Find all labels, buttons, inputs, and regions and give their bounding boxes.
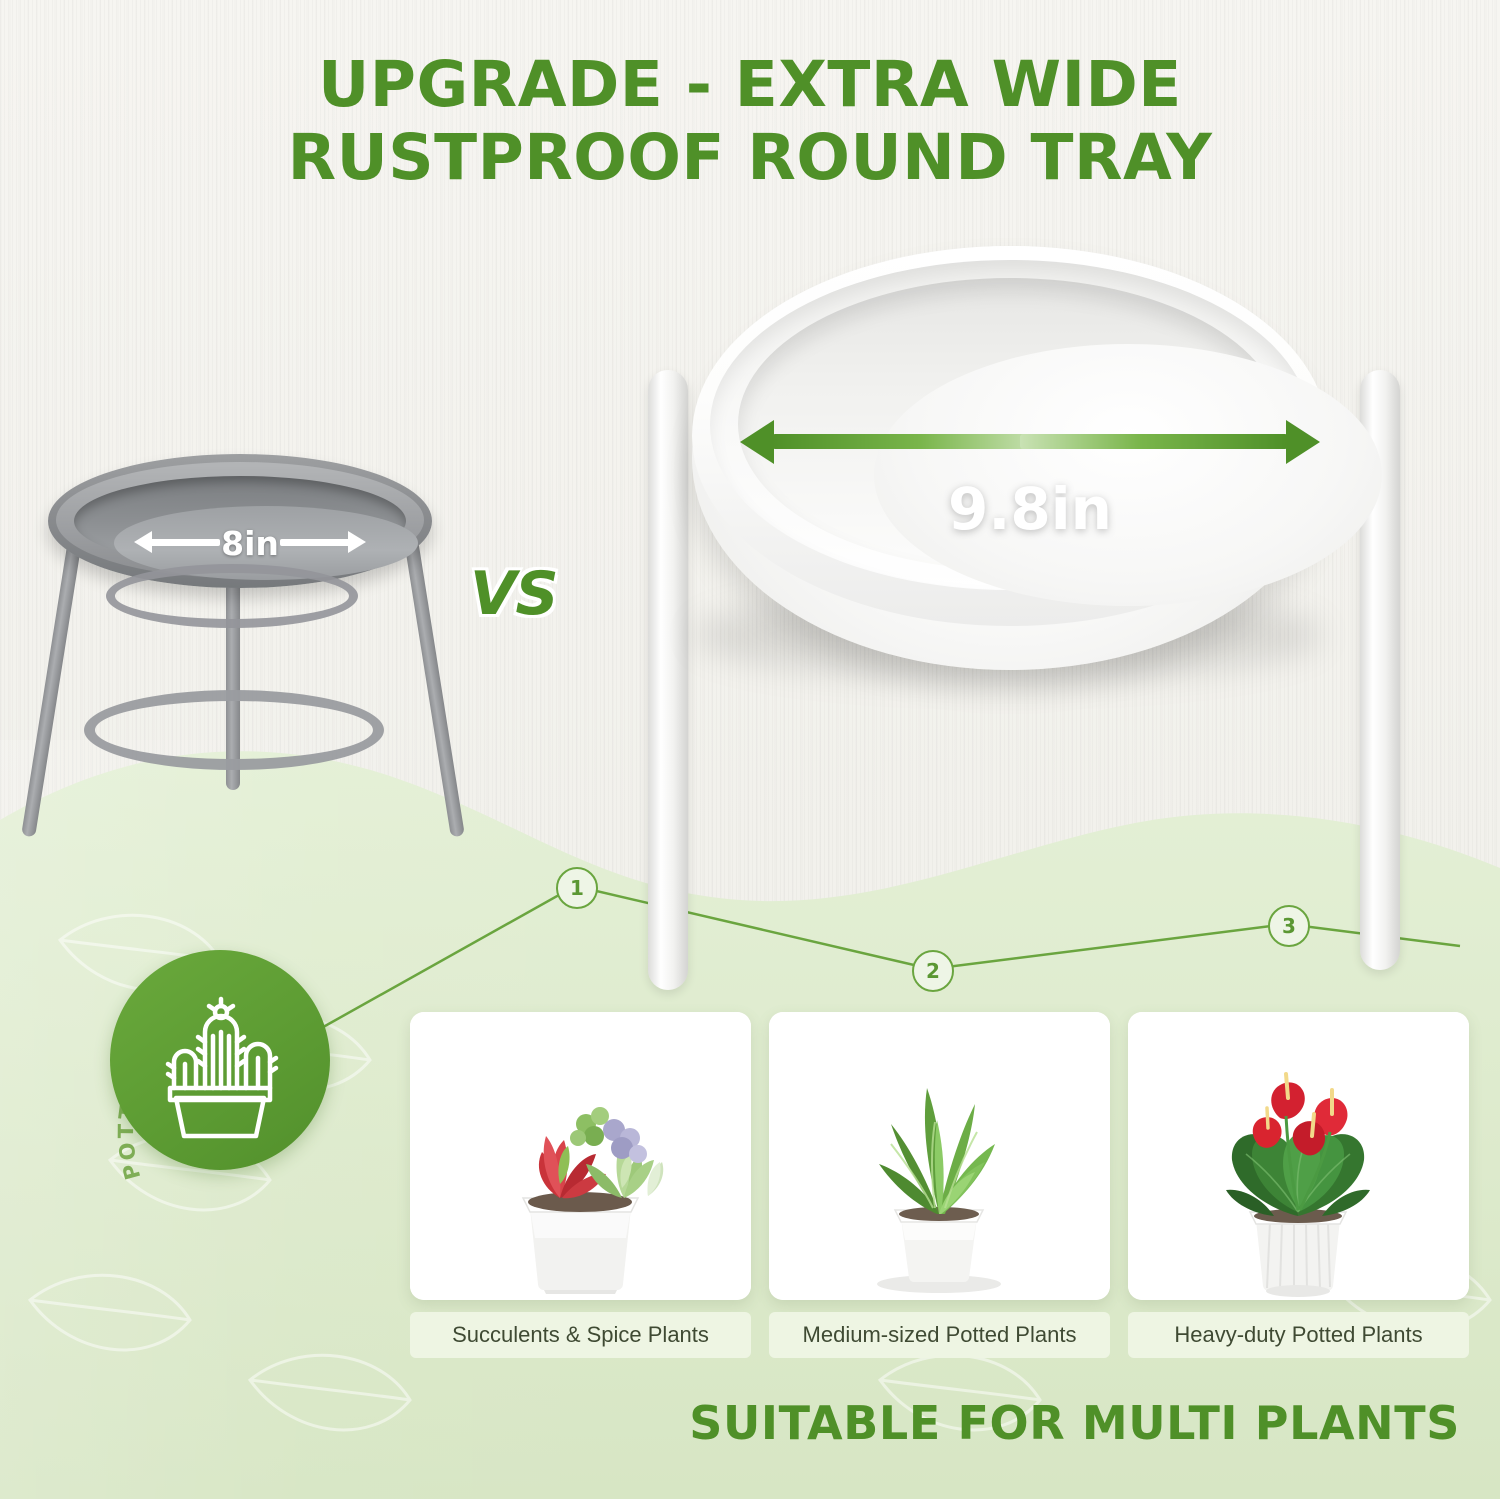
arrow-right-icon: [280, 531, 366, 553]
product-card-list: [410, 1012, 1470, 1302]
old-stand-support-ring: [84, 690, 384, 770]
arrow-right-green-icon: [1020, 420, 1320, 464]
caption-list: Succulents & Spice Plants Medium-sized P…: [410, 1312, 1470, 1360]
potted-plant-badge: POTTED PLANT: [110, 950, 330, 1170]
caption-succulents: Succulents & Spice Plants: [410, 1312, 751, 1358]
anthurium-plant-photo: [1128, 1012, 1469, 1300]
aloe-plant-photo: [769, 1012, 1110, 1300]
caption-medium-plants: Medium-sized Potted Plants: [769, 1312, 1110, 1358]
versus-label: VS: [470, 559, 558, 629]
old-dimension-label: 8in: [217, 524, 283, 563]
connector-node-1: 1: [556, 867, 598, 909]
headline-line-2: RUSTPROOF ROUND TRAY: [0, 121, 1500, 194]
footer-title: SUITABLE FOR MULTI PLANTS: [0, 1396, 1460, 1450]
old-stand-leg-left: [21, 539, 82, 837]
new-white-plant-stand: [620, 230, 1420, 890]
succulent-plant-photo: [410, 1012, 751, 1300]
old-tray-dimension: 8in: [140, 520, 360, 566]
arrow-left-green-icon: [740, 420, 1040, 464]
connector-node-3: 3: [1268, 905, 1310, 947]
product-card-succulents[interactable]: [410, 1012, 751, 1300]
cactus-pot-icon: [110, 950, 330, 1170]
caption-heavy-duty: Heavy-duty Potted Plants: [1128, 1312, 1469, 1358]
new-dimension-label: 9.8in: [740, 475, 1320, 543]
old-stand-brace: [106, 564, 358, 628]
new-stand-leg-left: [648, 370, 688, 990]
old-grey-plant-stand: [40, 440, 460, 860]
old-stand-leg-right: [404, 539, 465, 837]
connector-node-2: 2: [912, 950, 954, 992]
headline-line-1: UPGRADE - EXTRA WIDE: [0, 48, 1500, 121]
product-card-anthurium[interactable]: [1128, 1012, 1469, 1300]
infographic-canvas: UPGRADE - EXTRA WIDE RUSTPROOF ROUND TRA…: [0, 0, 1500, 1499]
page-title: UPGRADE - EXTRA WIDE RUSTPROOF ROUND TRA…: [0, 48, 1500, 194]
arrow-left-icon: [134, 531, 220, 553]
product-card-aloe[interactable]: [769, 1012, 1110, 1300]
new-tray-dimension-arrows: [740, 412, 1320, 472]
